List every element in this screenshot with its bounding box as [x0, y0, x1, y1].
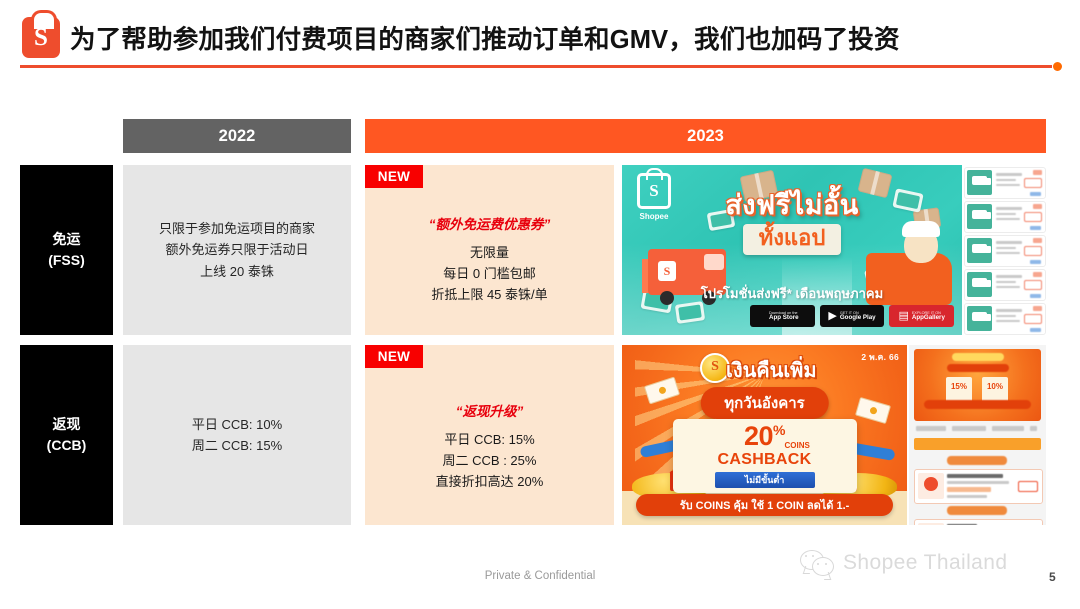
list-item[interactable]: [964, 269, 1046, 301]
use-button[interactable]: [1018, 481, 1038, 492]
cell-2023-ccb: NEW “返现升级” 平日 CCB: 15% 周二 CCB : 25% 直接折扣…: [365, 345, 614, 525]
banner-bottom-bar: รับ COINS คุ้ม ใช้ 1 COIN ลดได้ 1.-: [636, 494, 893, 516]
page-number: 5: [1049, 570, 1056, 584]
details-link[interactable]: [1030, 226, 1041, 230]
mockup-section-heading: [947, 506, 1007, 515]
cell-line: 直接折扣高达 20%: [365, 471, 614, 492]
cell-line: 每日 0 门槛包邮: [365, 263, 614, 284]
play-triangle-icon: ▶: [828, 311, 836, 322]
wechat-icon: [800, 550, 834, 576]
cell-2022-ccb: 平日 CCB: 10% 周二 CCB: 15%: [123, 345, 351, 525]
truck-thumb-icon: [967, 238, 992, 263]
free-shipping-banner: S S Shopee ส่งฟรีไม่อั้น ทั้งแอป โปรโมชั…: [622, 165, 962, 335]
details-link[interactable]: [1030, 328, 1041, 332]
row-label-en: (CCB): [47, 435, 87, 456]
coins-label: COINS: [785, 441, 810, 450]
page-title: 为了帮助参加我们付费项目的商家们推动订单和GMV，我们也加码了投资: [70, 15, 1060, 59]
details-link[interactable]: [1030, 192, 1041, 196]
cell-line: 平日 CCB: 10%: [192, 414, 282, 435]
coin-cashback-icon: [918, 473, 944, 499]
new-badge: NEW: [365, 345, 423, 368]
google-play-badge[interactable]: ▶ GET IT ON Google Play: [820, 305, 885, 327]
cell-line: 周二 CCB : 25%: [365, 450, 614, 471]
banner-pill-label: ทุกวันอังคาร: [700, 387, 829, 419]
banner-headline-line2: ทั้งแอป: [759, 225, 826, 250]
cashback-label: CASHBACK: [673, 451, 857, 469]
shopee-bag-icon: S: [22, 17, 60, 58]
banner-headline: ส่งฟรีไม่อั้น ทั้งแอป: [622, 191, 962, 255]
row-label-fss: 免运 (FSS): [20, 165, 113, 335]
cell-heading: “返现升级”: [365, 400, 614, 420]
discount-tag: [1033, 306, 1042, 311]
discount-tag: [1033, 204, 1042, 209]
truck-thumb-icon: [967, 272, 992, 297]
app-store-badges: Download on the App Store ▶ GET IT ON Go…: [750, 305, 954, 327]
truck-thumb-icon: [967, 306, 992, 331]
cell-line: 平日 CCB: 15%: [365, 429, 614, 450]
cell-line: 额外免运券只限于活动日: [159, 239, 315, 260]
cell-line: 折抵上限 45 泰铢/单: [365, 284, 614, 305]
watermark-text: Shopee Thailand: [843, 551, 1007, 575]
header-divider-dot: [1053, 62, 1062, 71]
shopee-logo-letter: S: [22, 17, 60, 58]
cell-line: 无限量: [365, 242, 614, 263]
banner-headline-band: ทั้งแอป: [743, 224, 842, 254]
app-store-badge[interactable]: Download on the App Store: [750, 305, 815, 327]
column-header-2023: 2023: [365, 119, 1046, 153]
voucher-card: [675, 301, 705, 324]
details-link[interactable]: [1030, 260, 1041, 264]
truck-logo-letter: S: [658, 261, 676, 281]
cashback-phone-mockup: 15% 10%: [909, 345, 1046, 525]
mockup-coupon-card[interactable]: [914, 469, 1043, 504]
discount-tag: [1033, 170, 1042, 175]
voucher-list-mockup: [962, 165, 1046, 335]
mockup-hero-cta[interactable]: [924, 400, 1031, 409]
row-label-ccb: 返现 (CCB): [20, 345, 113, 525]
truck-thumb-icon: [967, 170, 992, 195]
banner-date: 2 พ.ค. 66: [861, 350, 899, 364]
cell-line: 只限于参加免运项目的商家: [159, 218, 315, 239]
slide-header: S 为了帮助参加我们付费项目的商家们推动订单和GMV，我们也加码了投资: [0, 0, 1080, 72]
mockup-hero-banner: 15% 10%: [914, 349, 1041, 421]
app-store-label: Download on the App Store: [769, 311, 799, 321]
mockup-section-banner: [914, 438, 1041, 450]
appgallery-label: EXPLORE IT ON AppGallery: [912, 311, 945, 321]
cell-line: 上线 20 泰铢: [159, 261, 315, 282]
discount-tag: [1033, 238, 1042, 243]
row-label-cn: 免运: [53, 229, 81, 250]
header-divider: [20, 65, 1052, 68]
mockup-hero-subtitle: [947, 364, 1009, 372]
discount-tag: [1033, 272, 1042, 277]
use-button[interactable]: [1024, 212, 1042, 222]
banner-headline-line1: ส่งฟรีไม่อั้น: [622, 191, 962, 219]
list-item[interactable]: [964, 167, 1046, 199]
cashback-banner: 2 พ.ค. 66 S เงินคืนเพิ่ม ทุกวันอังคาร 20…: [622, 345, 907, 525]
mockup-hero-title: [952, 353, 1004, 361]
cell-2023-fss: NEW “额外免运费优惠券” 无限量 每日 0 门槛包邮 折抵上限 45 泰铢/…: [365, 165, 614, 335]
list-item[interactable]: [964, 235, 1046, 267]
use-button[interactable]: [1024, 280, 1042, 290]
truck-thumb-icon: [967, 204, 992, 229]
shopee-coupon-icon: [918, 523, 944, 525]
cell-line: 周二 CCB: 15%: [192, 435, 282, 456]
watermark: Shopee Thailand: [800, 543, 1050, 583]
use-button[interactable]: [1024, 178, 1042, 188]
mockup-tab-row[interactable]: [914, 424, 1041, 433]
use-button[interactable]: [1024, 314, 1042, 324]
row-label-cn: 返现: [53, 414, 81, 435]
new-badge: NEW: [365, 165, 423, 188]
ticket-value: 15%: [946, 382, 972, 391]
list-item[interactable]: [964, 303, 1046, 335]
list-item[interactable]: [964, 201, 1046, 233]
ticket-value: 10%: [982, 382, 1008, 391]
appgallery-badge[interactable]: ▤ EXPLORE IT ON AppGallery: [889, 305, 954, 327]
google-play-label: GET IT ON Google Play: [840, 311, 876, 321]
mockup-coupon-card[interactable]: [914, 519, 1043, 525]
details-link[interactable]: [1030, 294, 1041, 298]
mockup-section-heading: [947, 456, 1007, 465]
banner-title: เงินคืนเพิ่ม: [726, 354, 817, 386]
slide: S 为了帮助参加我们付费项目的商家们推动订单和GMV，我们也加码了投资 2022…: [0, 0, 1080, 609]
cashback-ticket-card: 20% COINS CASHBACK ไม่มีขั้นต่ำ: [673, 419, 857, 493]
appgallery-icon: ▤: [898, 311, 908, 322]
cell-2022-fss: 只限于参加免运项目的商家 额外免运券只限于活动日 上线 20 泰铢: [123, 165, 351, 335]
cashback-percent: 20%: [673, 423, 857, 450]
row-label-en: (FSS): [48, 250, 85, 271]
no-minimum-label: ไม่มีขั้นต่ำ: [715, 472, 815, 488]
use-button[interactable]: [1024, 246, 1042, 256]
column-header-2022: 2022: [123, 119, 351, 153]
cell-heading: “额外免运费优惠券”: [365, 213, 614, 233]
banner-subline: โปรโมชั่นส่งฟรี* เดือนพฤษภาคม: [622, 283, 962, 304]
